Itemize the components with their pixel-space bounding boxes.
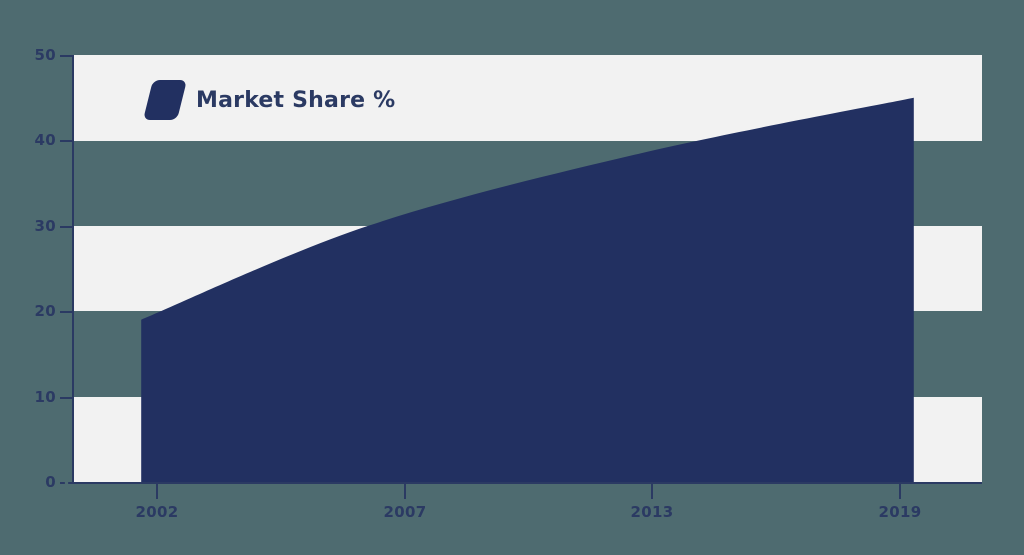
x-tick-2019 — [899, 484, 901, 499]
y-tick-label-10: 10 — [14, 390, 56, 405]
y-tick-label-40: 40 — [14, 133, 56, 148]
x-tick-2002 — [156, 484, 158, 499]
x-axis-line — [73, 482, 982, 484]
y-tick-label-20: 20 — [14, 304, 56, 319]
y-tick-label-50: 50 — [14, 48, 56, 63]
y-tick-30 — [60, 226, 73, 228]
x-tick-label-2013: 2013 — [612, 505, 692, 520]
y-tick-label-0: 0 — [14, 475, 56, 490]
x-tick-label-2002: 2002 — [117, 505, 197, 520]
area-path — [141, 98, 914, 482]
x-tick-label-2007: 2007 — [365, 505, 445, 520]
y-tick-10 — [60, 397, 73, 399]
y-tick-20 — [60, 311, 73, 313]
x-tick-2007 — [404, 484, 406, 499]
x-tick-label-2019: 2019 — [860, 505, 940, 520]
y-tick-label-30: 30 — [14, 219, 56, 234]
y-tick-40 — [60, 140, 73, 142]
y-tick-50 — [60, 55, 73, 57]
legend-swatch-market-share[interactable] — [143, 80, 187, 120]
x-tick-2013 — [651, 484, 653, 499]
legend-label-market-share[interactable]: Market Share % — [196, 88, 395, 113]
y-axis-line — [72, 55, 74, 484]
chart-legend: Market Share % — [148, 80, 395, 120]
chart-canvas: 50 40 30 20 10 0 2002 2007 2013 2019 Mar… — [0, 0, 1024, 555]
y-tick-0 — [60, 482, 73, 484]
